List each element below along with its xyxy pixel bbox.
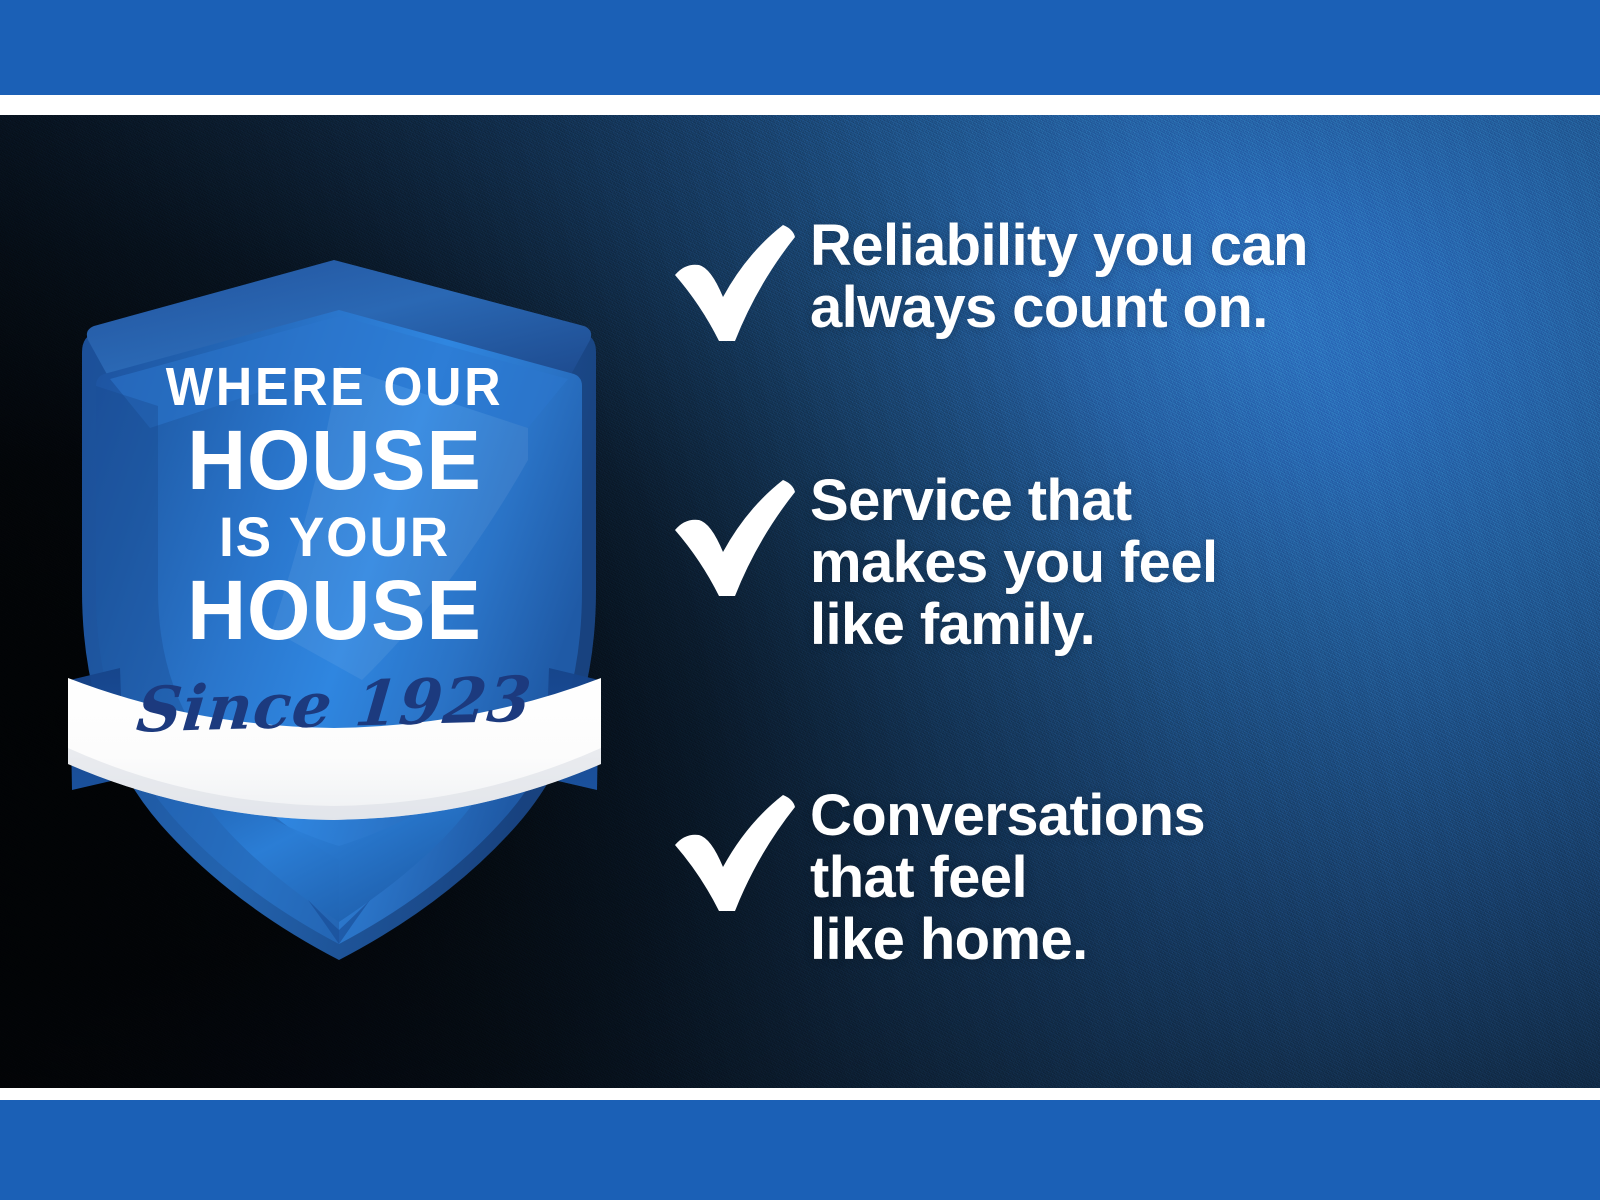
- benefit-text: Conversations that feel like home.: [810, 785, 1205, 971]
- check-icon: [660, 215, 810, 345]
- benefits-list: Reliability you can always count on. Ser…: [660, 115, 1540, 1088]
- top-white-divider: [0, 95, 1600, 115]
- shield-badge: WHERE OUR HOUSE IS YOUR HOUSE Since 1923: [62, 160, 607, 950]
- top-brand-bar: [0, 0, 1600, 95]
- promo-graphic: WHERE OUR HOUSE IS YOUR HOUSE Since 1923…: [0, 0, 1600, 1200]
- benefit-item: Reliability you can always count on.: [660, 215, 1540, 345]
- benefit-text: Service that makes you feel like family.: [810, 470, 1217, 656]
- bottom-brand-bar: [0, 1100, 1600, 1200]
- benefit-item: Conversations that feel like home.: [660, 785, 1540, 971]
- benefit-text: Reliability you can always count on.: [810, 215, 1308, 339]
- benefit-item: Service that makes you feel like family.: [660, 470, 1540, 656]
- check-icon: [660, 785, 810, 915]
- check-icon: [660, 470, 810, 600]
